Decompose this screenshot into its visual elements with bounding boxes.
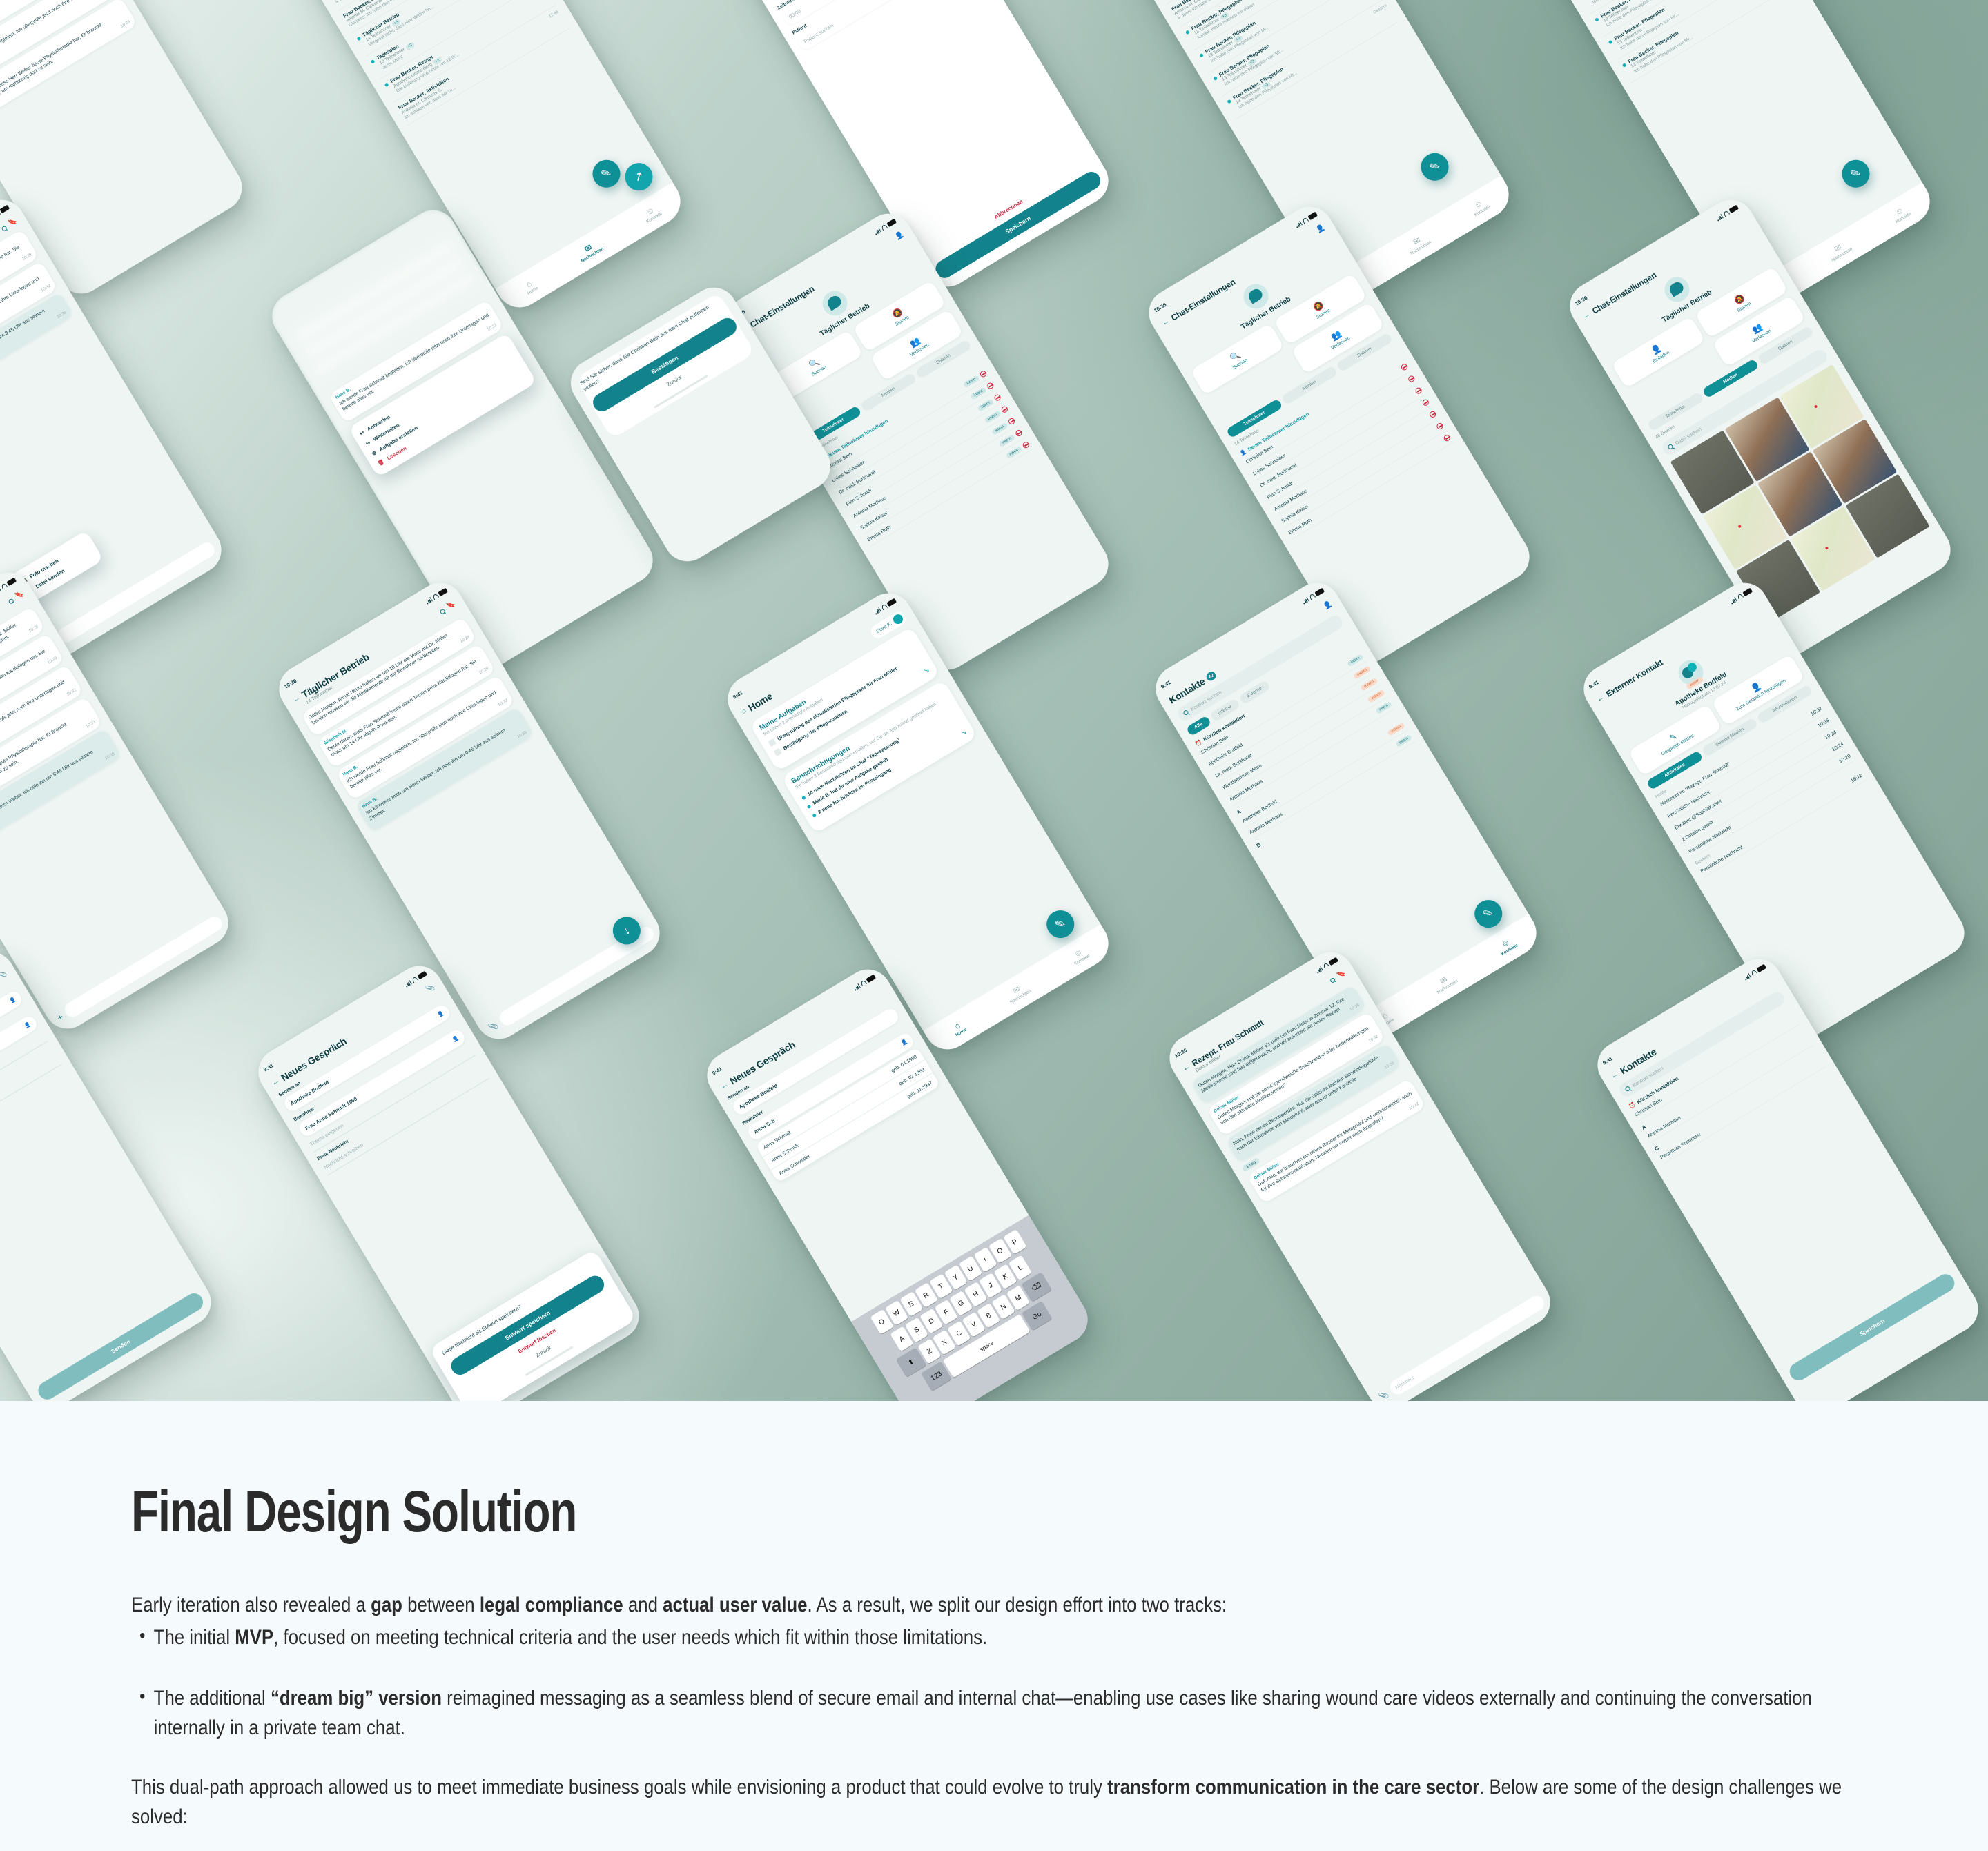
search-icon (1182, 709, 1189, 716)
wifi-icon (1301, 217, 1308, 224)
add-person-icon[interactable]: 👤 (8, 996, 17, 1004)
user-name: Clara K. (875, 621, 893, 634)
unread-dot (1227, 99, 1231, 104)
signal-icon (1301, 597, 1309, 605)
person-icon[interactable]: 👤 (451, 1035, 460, 1043)
add-person-icon[interactable]: 👤 (895, 231, 906, 242)
search-icon[interactable] (1, 225, 8, 232)
phone-rezept-chat[interactable]: 10:36 ←Rezept, Frau Schmidt 🔖 Doktor Mül… (1161, 943, 1559, 1401)
checkbox[interactable] (768, 738, 776, 747)
battery-icon (417, 971, 427, 980)
add-person-icon[interactable]: 👤 (1323, 600, 1334, 611)
wifi-icon (431, 594, 438, 600)
bullet-dot (801, 796, 806, 801)
status-time: 9:41 (262, 1062, 275, 1073)
wifi-icon (880, 224, 887, 231)
unread-dot (1199, 53, 1204, 58)
first-message-field[interactable]: Nachricht schreiben (0, 1050, 61, 1162)
signal-icon (0, 587, 1, 594)
search-icon[interactable] (1329, 977, 1336, 983)
signal-icon (1729, 597, 1737, 605)
prose-section: Final Design Solution Early iteration al… (0, 1401, 1988, 1851)
remove-icon[interactable] (1421, 398, 1430, 407)
remove-icon[interactable] (1443, 434, 1451, 442)
tab-messages[interactable]: ✉Nachrichten (1431, 970, 1459, 995)
search-icon (1624, 1086, 1631, 1093)
remove-icon[interactable] (1015, 429, 1023, 437)
wifi-icon (859, 980, 866, 987)
wifi-icon (1722, 210, 1729, 217)
composer-input[interactable]: Nachricht (1387, 1293, 1547, 1398)
person-icon[interactable]: 👤 (23, 1021, 32, 1029)
battery-icon (1756, 964, 1766, 973)
phone-neues-gespraech-draft[interactable]: 9:41 ←Neues Gespräch 📎 Senden an Apothek… (250, 957, 647, 1401)
back-icon[interactable]: ← (291, 694, 302, 704)
remove-icon[interactable] (979, 370, 987, 378)
battery-icon (886, 598, 897, 607)
status-time: 9:41 (1601, 1055, 1614, 1066)
contacts-count-badge: 62 (1205, 670, 1218, 682)
closing-paragraph: This dual-path approach allowed us to me… (131, 1773, 1853, 1832)
remove-icon[interactable] (993, 393, 1002, 402)
page-title: Final Design Solution (131, 1478, 1477, 1545)
remove-icon[interactable] (1007, 417, 1015, 425)
back-icon[interactable]: ← (1581, 311, 1592, 321)
remove-icon[interactable] (1407, 375, 1416, 383)
bullet-list: The initial MVP, focused on meeting tech… (131, 1623, 1857, 1743)
tab-contacts[interactable]: ☺Kontakte (641, 203, 663, 224)
draft-sheet: Diese Nachricht als Entwurf speichern? E… (429, 1248, 636, 1401)
trash-icon: 🗑 (377, 458, 386, 467)
tab-contacts[interactable]: ☺Kontakte (1495, 934, 1519, 957)
tab-contacts[interactable]: ☺Kontakte (1469, 196, 1491, 217)
remove-icon[interactable] (1436, 422, 1444, 430)
signal-icon (1294, 221, 1302, 228)
wifi-icon (1736, 594, 1743, 600)
list-item: The initial MVP, focused on meeting tech… (131, 1623, 1853, 1653)
battery-icon (886, 219, 897, 228)
battery-icon (6, 578, 17, 587)
signal-icon (1315, 966, 1323, 974)
cancel-button[interactable]: Abbrechnen (926, 158, 1091, 261)
battery-icon (1314, 588, 1325, 597)
send-button[interactable]: Senden (35, 1290, 206, 1401)
battery-icon (1328, 957, 1338, 966)
search-icon: 🔍 (774, 337, 854, 390)
status-time: 10:36 (1173, 1047, 1188, 1059)
status-time: 9:41 (1160, 679, 1172, 689)
battery-icon (1728, 205, 1739, 214)
search-icon[interactable] (439, 608, 446, 615)
wifi-icon (0, 583, 7, 590)
remove-icon[interactable] (1428, 410, 1436, 418)
forward-icon: ↪ (364, 439, 371, 447)
patient-field[interactable]: Patient suchen▾ (795, 0, 966, 52)
unread-dot (384, 83, 389, 88)
wifi-icon (880, 604, 887, 611)
back-icon[interactable]: ← (271, 1077, 281, 1087)
unread-dot (1595, 17, 1599, 22)
back-icon[interactable]: ← (1181, 1063, 1191, 1073)
status-time: 10:36 (283, 678, 298, 690)
phone-chat-taeglicher-betrieb-2[interactable]: 10:36 ←Täglicher Betrieb 🔖 14 Teilnehmer… (0, 564, 237, 1037)
phone-chat-taeglicher-betrieb-3[interactable]: 10:36 ←Täglicher Betrieb 🔖 14 Teilnehmer… (271, 574, 668, 1048)
battery-icon (1307, 212, 1318, 221)
status-time: 9:41 (711, 1066, 723, 1076)
add-person-icon[interactable]: 👤 (1316, 224, 1327, 235)
avatar[interactable] (891, 612, 904, 625)
signal-icon (873, 607, 881, 615)
home-icon: ⌂ (741, 707, 748, 716)
hero-mockup-board: 10:36 ← Täglicher Betrieb 3 🔖 14 Teilneh… (0, 0, 1988, 1401)
person-icon[interactable]: 👤 (900, 1038, 909, 1046)
phone-neues-gespraech-keyboard[interactable]: 9:41 ←Neues Gespräch Senden an Apotheke … (699, 961, 1096, 1401)
bookmark-icon[interactable]: 🔖 (446, 600, 457, 611)
search-icon (1667, 444, 1674, 451)
phone-home[interactable]: 9:41 ⌂ Home Clara K. Meine Aufgaben Sie … (719, 585, 1117, 1058)
wifi-icon (1322, 963, 1329, 970)
confirm-sheet: Sind Sie sicher, dass Sie Christian Bein… (576, 292, 755, 438)
status-time: 9:41 (732, 689, 744, 700)
tab-messages[interactable]: ✉Nachrichten (1826, 238, 1853, 263)
status-time: 9:41 (1588, 679, 1600, 689)
save-button[interactable]: Speichern (1786, 1271, 1958, 1383)
remove-icon[interactable] (1414, 386, 1423, 395)
phone-kontakte-search[interactable]: 9:41 ←Kontakte Kontakt suchen ⏰Kürzlich … (1589, 950, 1987, 1401)
back-icon[interactable]: ← (1595, 694, 1606, 704)
wifi-icon (1750, 970, 1757, 977)
paperclip-icon[interactable]: 📎 (425, 983, 436, 994)
back-icon[interactable]: ← (1160, 317, 1171, 328)
status-time: 10:36 (1574, 295, 1588, 307)
paperclip-icon[interactable]: 📎 (1377, 1389, 1390, 1401)
signal-icon (852, 983, 860, 991)
reply-icon: ↩ (358, 429, 365, 437)
bookmark-icon[interactable]: 🔖 (14, 590, 26, 600)
unread-dot (371, 59, 376, 64)
tab-home[interactable]: ⌂Home (950, 1019, 968, 1037)
unread-dot (1213, 76, 1218, 81)
bullet-dot (807, 805, 812, 810)
bookmark-icon[interactable]: 🔖 (8, 217, 19, 228)
remove-icon[interactable] (986, 382, 995, 390)
search-icon: 🔍 (1196, 330, 1275, 383)
remove-icon[interactable] (1022, 441, 1030, 449)
unread-dot (1608, 40, 1613, 45)
search-icon[interactable] (8, 598, 14, 605)
paperclip-icon[interactable]: 📎 (487, 1020, 499, 1032)
tab-contacts[interactable]: ☺Kontakte (1890, 203, 1912, 224)
signal-icon (1743, 973, 1751, 981)
phone-grid: 10:36 ← Täglicher Betrieb 3 🔖 14 Teilneh… (0, 0, 1988, 1401)
phone-neues-gespraech-1[interactable]: 9:41 ←Neues Gespräch 📎 Senden an Apothek… (0, 943, 220, 1401)
remove-icon[interactable] (1400, 363, 1408, 371)
add-person-icon[interactable]: 👤 (436, 1010, 445, 1018)
signal-icon (873, 228, 881, 235)
battery-icon (866, 975, 876, 983)
page-title: Home (746, 690, 774, 713)
tab-messages[interactable]: ✉Nachrichten (1004, 980, 1032, 1005)
intro-paragraph: Early iteration also revealed a gap betw… (131, 1591, 1853, 1620)
wifi-icon (411, 977, 418, 983)
tab-home[interactable]: ⌂Home (521, 277, 538, 296)
plus-icon[interactable]: + (55, 1011, 65, 1023)
unread-dot (1622, 63, 1627, 68)
back-icon[interactable]: ← (719, 1080, 730, 1090)
battery-icon (438, 588, 448, 597)
tab-messages[interactable]: ✉Nachrichten (1405, 231, 1432, 256)
tab-messages[interactable]: ✉Nachrichten (575, 238, 604, 264)
status-time: 10:36 (1153, 302, 1167, 314)
battery-icon (1742, 588, 1753, 597)
paperclip-icon[interactable]: 📎 (0, 970, 8, 980)
remove-icon[interactable] (1000, 405, 1008, 413)
plus-circle-icon: ⊕ (371, 449, 378, 457)
tab-contacts[interactable]: ☺Kontakte (1069, 945, 1091, 966)
back-icon[interactable]: ← (1610, 1070, 1620, 1080)
signal-icon (1715, 214, 1723, 222)
signal-icon (404, 980, 411, 988)
invite-icon: 👤 (1617, 323, 1696, 376)
unread-dot (357, 37, 362, 41)
list-item: The additional “dream big” version reima… (131, 1684, 1853, 1743)
wifi-icon (1308, 594, 1315, 600)
save-button[interactable]: Speichern (933, 168, 1104, 281)
signal-icon (425, 597, 432, 605)
battery-icon (0, 205, 10, 214)
unread-dot (1185, 30, 1190, 35)
